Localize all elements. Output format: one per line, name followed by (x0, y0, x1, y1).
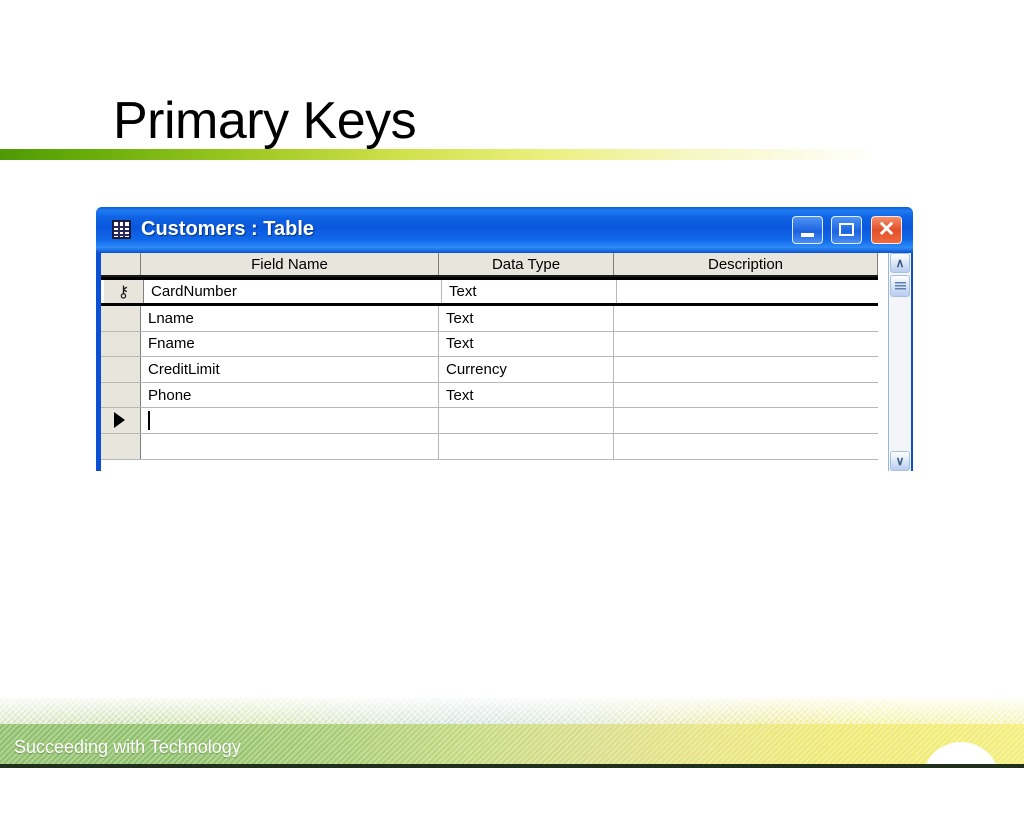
description-cell[interactable] (614, 383, 878, 408)
data-type-cell[interactable] (439, 408, 614, 433)
row-selector[interactable] (101, 306, 141, 331)
current-record-arrow-icon (114, 412, 125, 428)
grid-header-row: Field Name Data Type Description (101, 253, 878, 277)
scrollbar-thumb[interactable] (890, 275, 910, 297)
description-cell[interactable] (614, 306, 878, 331)
scroll-down-arrow-icon[interactable]: ∨ (890, 451, 910, 471)
field-name-cell[interactable]: Phone (141, 383, 439, 408)
column-header-description[interactable]: Description (614, 253, 878, 275)
table-datasheet-icon (112, 220, 131, 239)
primary-key-icon: ⚷ (115, 283, 132, 302)
field-definition-grid: Field Name Data Type Description ⚷ CardN… (101, 253, 908, 471)
text-caret (148, 411, 150, 430)
data-type-cell[interactable] (439, 434, 614, 459)
field-name-cell[interactable]: CreditLimit (141, 357, 439, 382)
minimize-button[interactable] (792, 216, 823, 244)
row-selector[interactable]: ⚷ (104, 280, 144, 303)
description-cell[interactable] (617, 280, 878, 303)
data-type-cell[interactable]: Text (439, 306, 614, 331)
scrollbar-grip-icon (895, 282, 906, 291)
vertical-scrollbar[interactable]: ∧ ∨ (888, 253, 911, 471)
data-type-cell[interactable]: Text (439, 383, 614, 408)
footer-sun-circle (922, 742, 1000, 820)
page-title: Primary Keys (113, 95, 416, 147)
row-selector-current[interactable] (101, 408, 141, 433)
footer-label: Succeeding with Technology (14, 737, 241, 758)
close-button[interactable]: ✕ (871, 216, 902, 244)
row-selector[interactable] (101, 383, 141, 408)
table-row[interactable]: Lname Text (101, 306, 878, 332)
close-icon: ✕ (872, 217, 901, 243)
row-selector[interactable] (101, 434, 141, 459)
description-cell[interactable] (614, 332, 878, 357)
table-row-empty[interactable] (101, 434, 878, 460)
window-titlebar[interactable]: Customers : Table ✕ (96, 207, 913, 253)
window-title: Customers : Table (141, 218, 314, 241)
table-row[interactable]: CreditLimit Currency (101, 357, 878, 383)
table-row[interactable]: Phone Text (101, 383, 878, 409)
data-type-cell[interactable]: Currency (439, 357, 614, 382)
row-selector[interactable] (101, 332, 141, 357)
scroll-up-arrow-icon[interactable]: ∧ (890, 253, 910, 273)
column-header-data-type[interactable]: Data Type (439, 253, 614, 275)
description-cell[interactable] (614, 434, 878, 459)
row-selector-header (101, 253, 141, 275)
table-row[interactable]: Fname Text (101, 332, 878, 358)
field-name-cell[interactable]: Fname (141, 332, 439, 357)
footer-baseline (0, 764, 1024, 768)
field-name-cell[interactable]: Lname (141, 306, 439, 331)
access-table-design-window: Customers : Table ✕ Field Name Data Type… (96, 207, 913, 471)
data-type-cell[interactable]: Text (442, 280, 617, 303)
title-underline-rule (0, 149, 880, 160)
minimize-icon (801, 233, 814, 237)
table-row[interactable]: ⚷ CardNumber Text (101, 277, 878, 306)
description-cell[interactable] (614, 357, 878, 382)
field-name-cell[interactable] (141, 434, 439, 459)
restore-button[interactable] (831, 216, 862, 244)
row-selector[interactable] (101, 357, 141, 382)
field-name-cell[interactable]: CardNumber (144, 280, 442, 303)
restore-icon (839, 223, 854, 236)
field-name-cell[interactable] (141, 408, 439, 433)
data-type-cell[interactable]: Text (439, 332, 614, 357)
column-header-field-name[interactable]: Field Name (141, 253, 439, 275)
table-row-new[interactable] (101, 408, 878, 434)
description-cell[interactable] (614, 408, 878, 433)
